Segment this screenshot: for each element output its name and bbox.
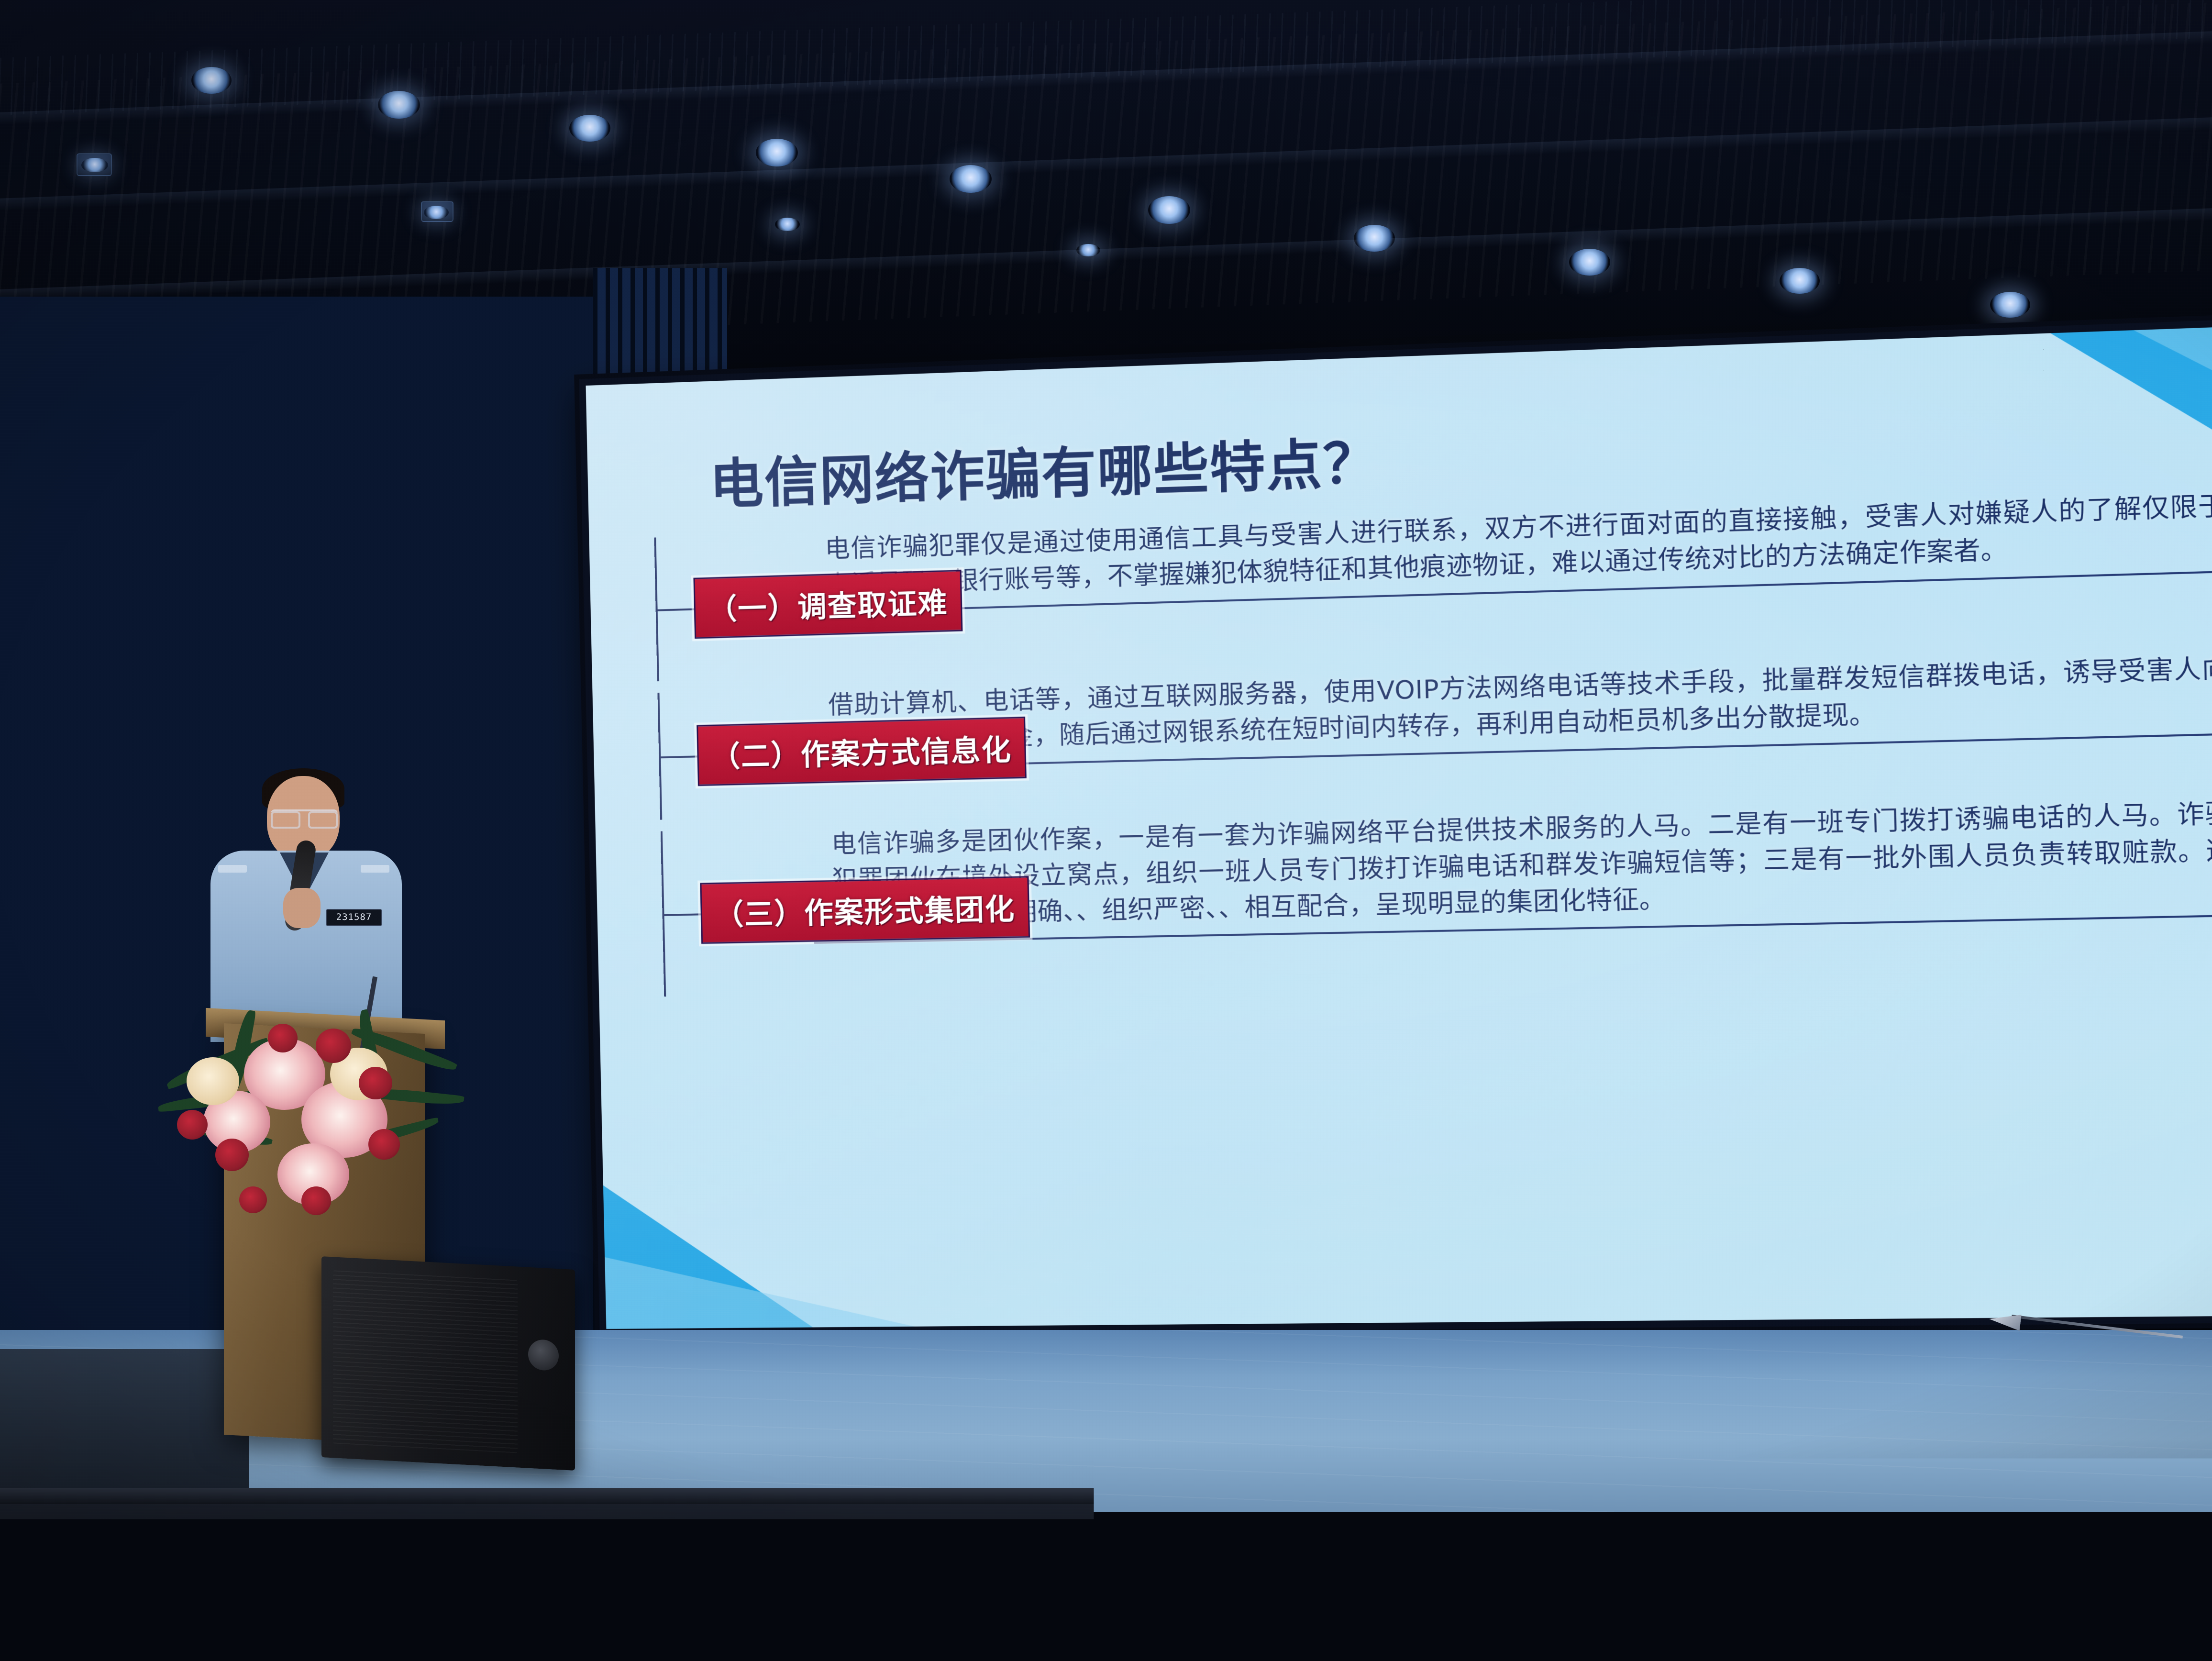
speaker-grill <box>333 1270 518 1453</box>
uniform-epaulette-left <box>218 865 247 873</box>
section-label-3: （三）作案形式集团化 <box>700 876 1030 944</box>
ceiling-light-icon <box>569 115 610 142</box>
projection-screen: 电信网络诈骗有哪些特点？ （一）调查取证难 电信诈骗犯罪仅是通过使用通信工具与受… <box>579 318 2212 1336</box>
section-label-1: （一）调查取证难 <box>693 570 962 639</box>
stage-apron-panel <box>1167 1512 1437 1652</box>
ceiling-light-icon <box>1148 196 1190 224</box>
stage-monitor-speaker-icon <box>321 1256 575 1471</box>
slide-section-3: （三）作案形式集团化 电信诈骗多是团伙作案，一是有一套为诈骗网络平台提供技术服务… <box>653 796 2212 1005</box>
speaker-port <box>528 1339 559 1371</box>
auditorium-stage-photo: 电信网络诈骗有哪些特点？ （一）调查取证难 电信诈骗犯罪仅是通过使用通信工具与受… <box>0 0 2212 1661</box>
ceiling-light-icon <box>1569 249 1610 276</box>
stage-edge <box>0 1488 2212 1504</box>
stage-apron <box>0 1504 2212 1661</box>
stage-floor-shadow <box>0 1349 249 1493</box>
section-bracket-3: （三）作案形式集团化 <box>653 828 815 997</box>
flower-arrangement-icon <box>158 938 454 1244</box>
section-bracket-2: （二）作案方式信息化 <box>650 689 811 820</box>
ceiling-light-icon <box>81 158 108 172</box>
uniform-epaulette-right <box>361 865 389 873</box>
ceiling-light-icon <box>1354 225 1395 252</box>
section-label-2: （二）作案方式信息化 <box>697 717 1027 786</box>
ceiling-light-icon <box>756 139 798 166</box>
ceiling-light-icon <box>775 218 800 231</box>
speaker-hand <box>283 888 321 928</box>
police-badge-number: 231587 <box>326 909 382 926</box>
glasses-icon <box>271 809 338 826</box>
section-bracket-1: （一）调查取证难 <box>646 533 808 682</box>
ceiling-light-icon <box>1780 268 1820 294</box>
ceiling-light-icon <box>1990 292 2030 318</box>
ceiling-light-icon <box>950 165 992 193</box>
ceiling-light-icon <box>424 206 449 219</box>
ceiling-light-icon <box>191 67 232 94</box>
ceiling-light-icon <box>1076 244 1100 256</box>
presentation-slide: 电信网络诈骗有哪些特点？ （一）调查取证难 电信诈骗犯罪仅是通过使用通信工具与受… <box>586 325 2212 1329</box>
badge-number-text: 231587 <box>327 910 381 924</box>
slide-sections: （一）调查取证难 电信诈骗犯罪仅是通过使用通信工具与受害人进行联系，双方不进行面… <box>646 488 2212 1006</box>
ceiling-light-icon <box>378 91 420 119</box>
